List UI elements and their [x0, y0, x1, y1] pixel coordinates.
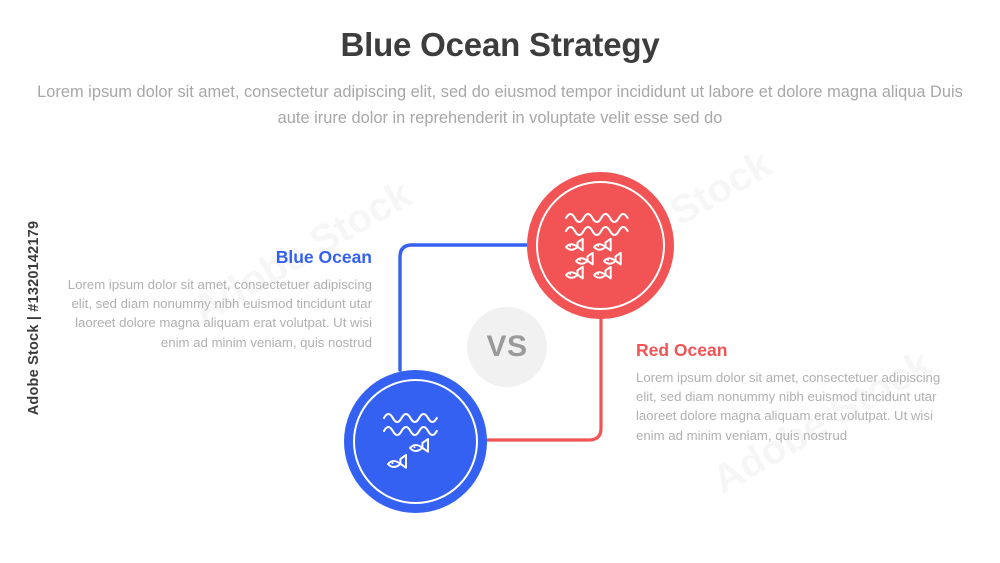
red-ocean-heading: Red Ocean [636, 340, 948, 361]
open-ocean-fish-icon [380, 409, 452, 475]
blue-ocean-text-block: Blue Ocean Lorem ipsum dolor sit amet, c… [60, 247, 372, 352]
red-ocean-text-block: Red Ocean Lorem ipsum dolor sit amet, co… [636, 340, 948, 445]
page-subtitle: Lorem ipsum dolor sit amet, consectetur … [30, 79, 970, 131]
adobe-stock-watermark: Adobe Stock | #1320142179 [26, 208, 42, 428]
red-ocean-node[interactable] [527, 172, 674, 319]
blue-ocean-body: Lorem ipsum dolor sit amet, consectetuer… [60, 275, 372, 352]
infographic-canvas: Adobe Stock Adobe Stock Adobe Stock Adob… [0, 0, 1000, 563]
blue-ocean-heading: Blue Ocean [60, 247, 372, 268]
page-title: Blue Ocean Strategy [0, 26, 1000, 64]
blue-ocean-node[interactable] [344, 370, 487, 513]
crowded-ocean-fish-icon [562, 209, 640, 283]
vs-badge: VS [467, 307, 547, 387]
red-ocean-body: Lorem ipsum dolor sit amet, consectetuer… [636, 368, 948, 445]
